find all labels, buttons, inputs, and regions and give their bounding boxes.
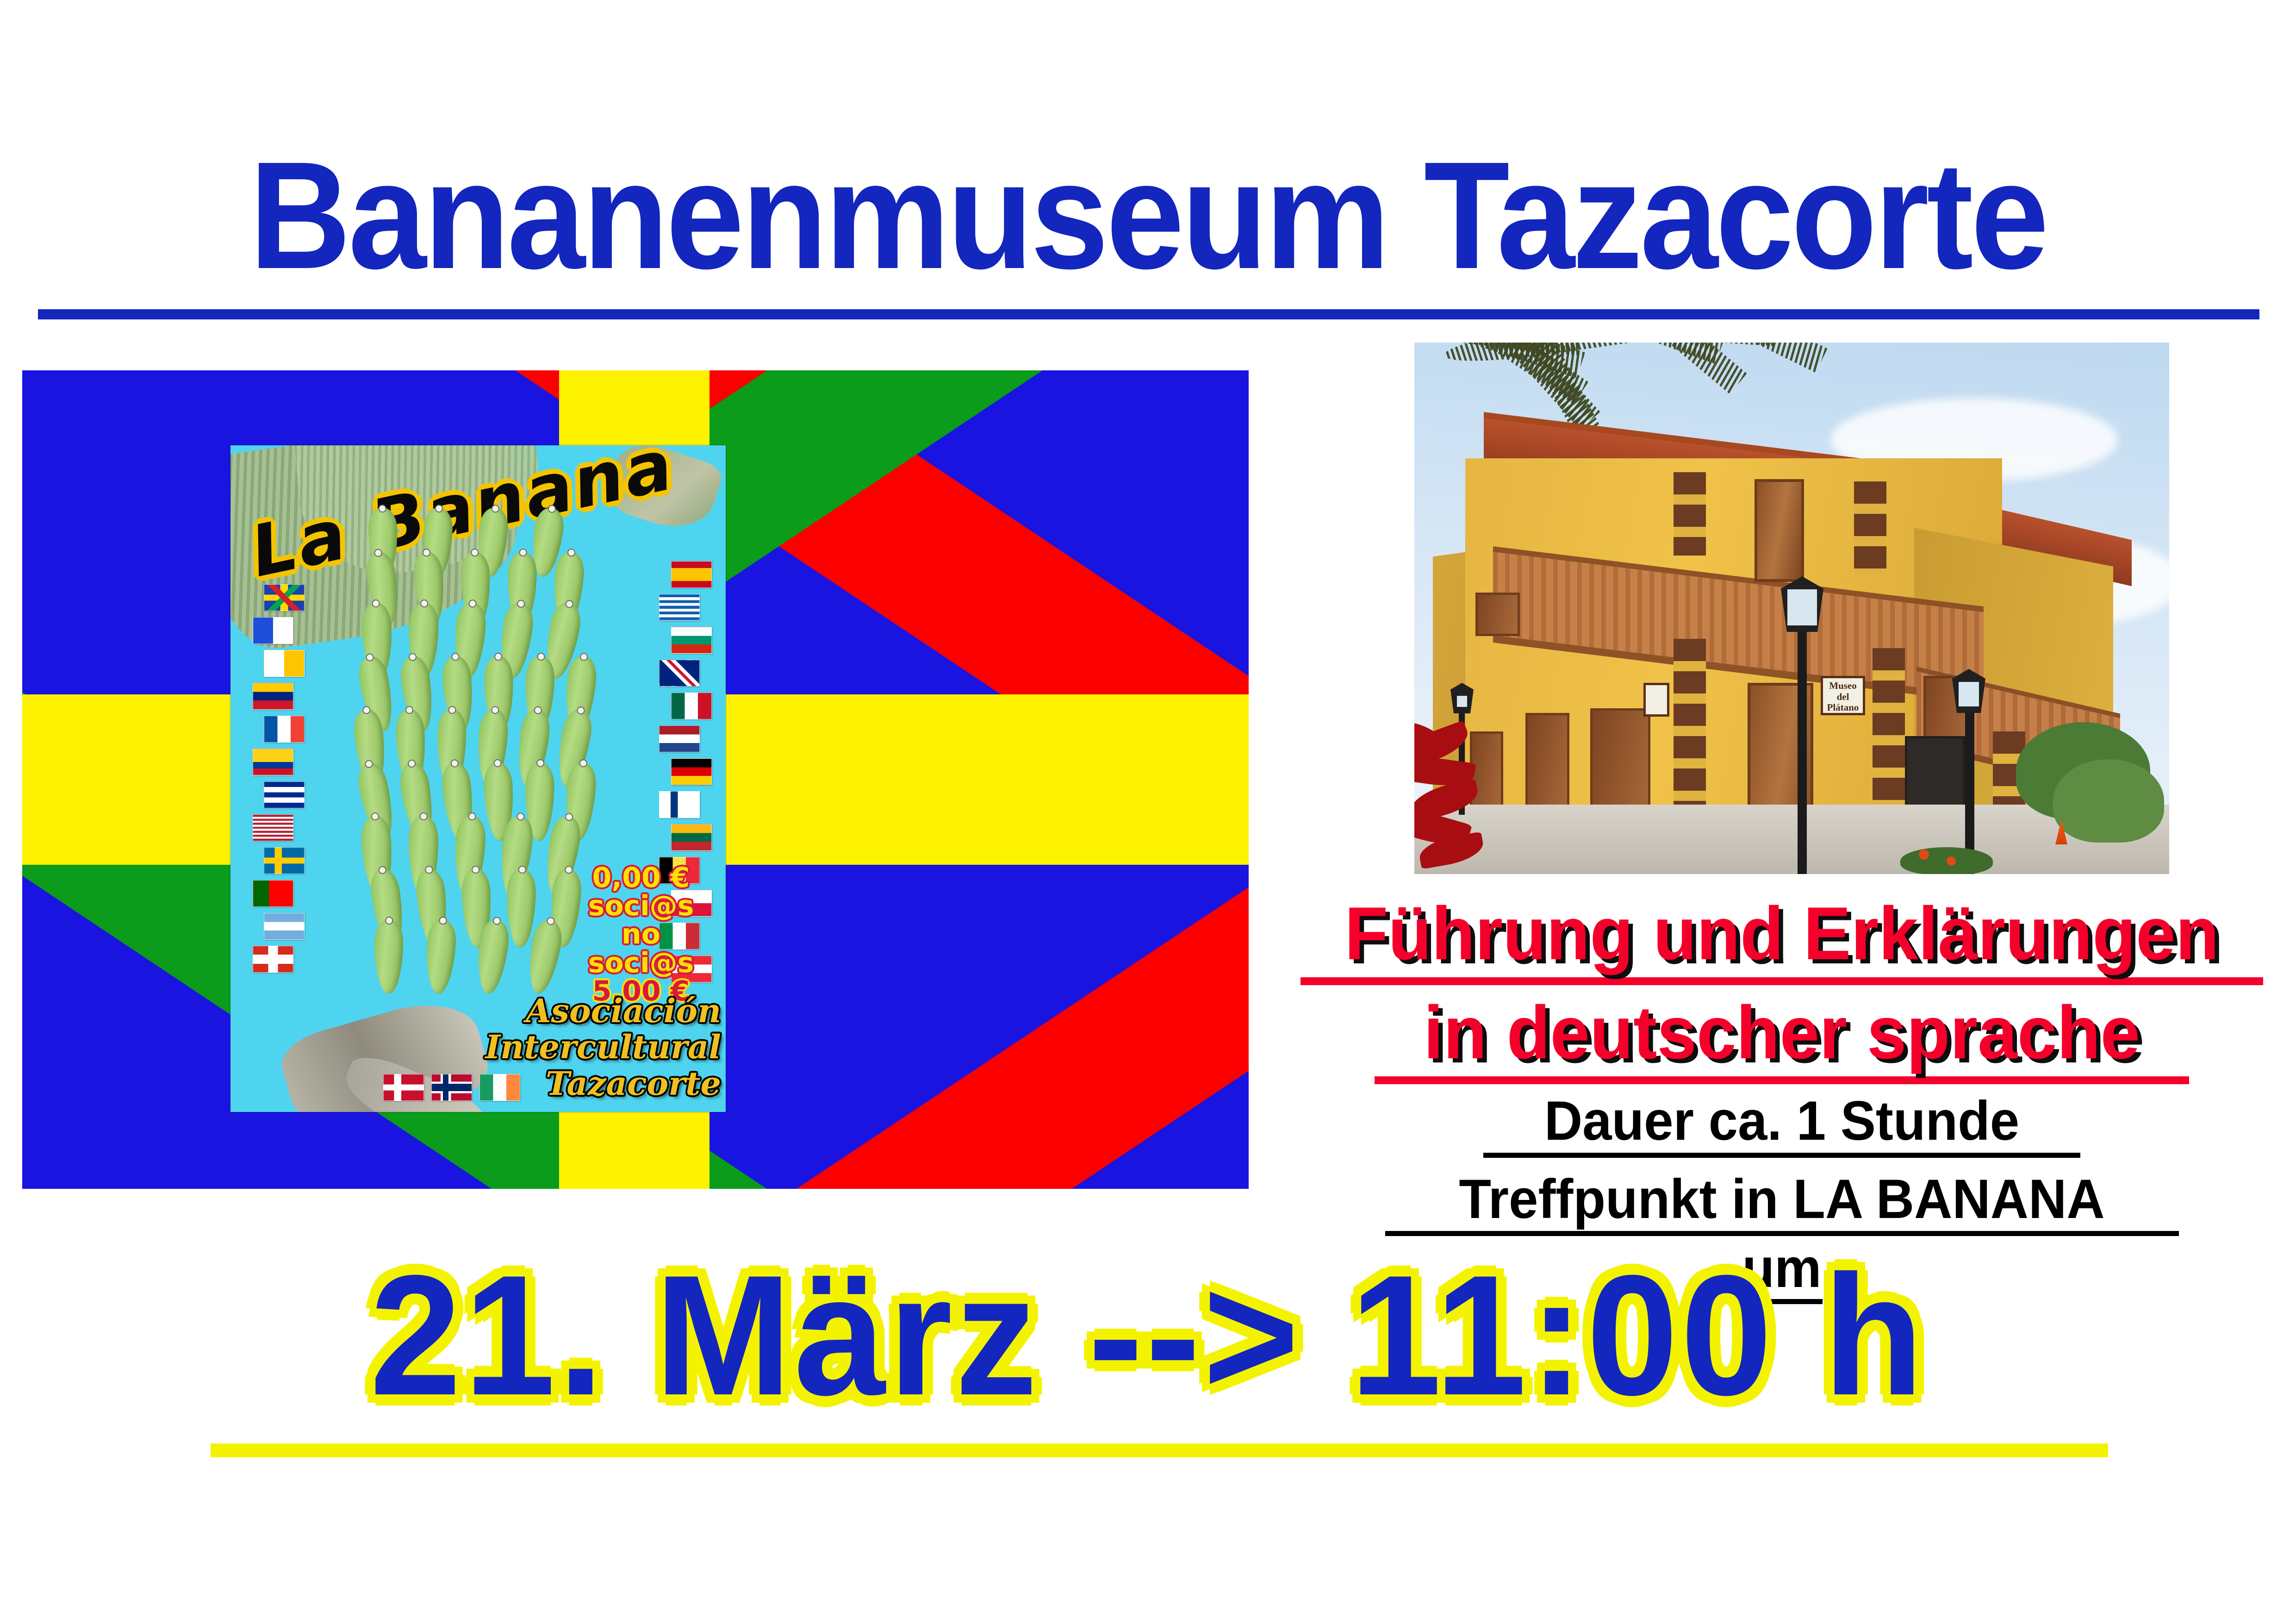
germany-flag <box>671 758 712 785</box>
sweden-flag <box>264 847 305 874</box>
meeting-point-text: Treffpunkt in LA BANANA <box>1303 1170 2261 1228</box>
headline-line-1: Führung und Erklärungen <box>1303 893 2261 974</box>
red-poinsettia-plant <box>1414 726 1553 874</box>
price-members-label: soci@s <box>565 892 717 920</box>
argentina-flag <box>264 913 305 940</box>
lithuania-flag <box>671 824 712 851</box>
orange-flower <box>1919 849 1929 860</box>
france-flag <box>264 716 305 743</box>
museum-sign-line-1: Museo <box>1823 681 1863 692</box>
museum-building-photo: Museo del Plátano <box>1414 343 2169 874</box>
page-title-container: Bananenmuseum Tazacorte <box>0 139 2296 292</box>
headline-line-2: in deutscher sprache <box>1303 993 2261 1074</box>
association-credit: Asociación Intercultural Tazacorte <box>360 993 721 1102</box>
banana-fruit-icon <box>424 919 457 994</box>
duration-underline <box>1483 1153 2080 1158</box>
mexico-flag <box>671 693 712 719</box>
price-list: 0,00 € soci@s no soci@s 5,00 € <box>565 864 717 1006</box>
bulgaria-flag <box>671 627 712 654</box>
meeting-point-underline <box>1385 1231 2179 1236</box>
date-banner-container: 21. März --> 11:00 h <box>0 1250 2296 1421</box>
tazacorte-flag <box>253 617 293 644</box>
museum-sign-line-2: del <box>1823 692 1863 703</box>
date-time-banner: 21. März --> 11:00 h <box>370 1250 1926 1421</box>
corner-stonework <box>1674 472 1706 556</box>
la-palma-flag <box>264 584 305 611</box>
banana-fruit-icon <box>374 920 404 994</box>
banana-plants-background <box>2053 759 2164 843</box>
museum-sign: Museo del Plátano <box>1821 676 1865 715</box>
page-title: Bananenmuseum Tazacorte <box>249 139 2047 292</box>
street-lamp-post <box>1798 630 1807 874</box>
spain-flag <box>671 561 712 588</box>
orange-flower <box>1947 856 1956 866</box>
flag-column-left <box>253 584 305 979</box>
banana-fruit-icon <box>506 868 536 948</box>
canary-islands-flag <box>264 650 305 677</box>
headline-underline-1 <box>1300 977 2263 985</box>
united-kingdom-flag <box>659 660 700 687</box>
la-banana-artwork: La Banana 0,00 € soci@s no soci@s 5,00 €… <box>22 370 1249 1189</box>
finland-flag <box>659 791 700 818</box>
price-nonmembers-label: no soci@s <box>565 920 717 977</box>
association-line-1: Asociación Intercultural <box>360 993 721 1066</box>
duration-text: Dauer ca. 1 Stunde <box>1303 1092 2261 1150</box>
banana-bunch-illustration <box>353 508 603 1008</box>
title-underline <box>38 309 2259 319</box>
upper-door <box>1755 479 1804 582</box>
netherlands-flag <box>659 725 700 752</box>
association-line-2: Tazacorte <box>360 1066 721 1102</box>
usa-flag <box>253 814 293 841</box>
date-banner-underline <box>211 1443 2108 1457</box>
secondary-wall-plaque <box>1643 683 1669 717</box>
switzerland-flag <box>253 946 293 973</box>
la-banana-poster: La Banana 0,00 € soci@s no soci@s 5,00 €… <box>230 445 726 1112</box>
upper-floor-window <box>1475 593 1520 636</box>
price-members-amount: 0,00 € <box>565 864 717 892</box>
greece-flag <box>659 594 700 621</box>
corner-stonework <box>1854 481 1886 574</box>
colombia-flag <box>253 749 293 775</box>
museum-sign-line-3: Plátano <box>1823 702 1863 713</box>
headline-underline-2 <box>1375 1076 2189 1084</box>
portugal-flag <box>253 880 293 907</box>
venezuela-flag <box>253 683 293 710</box>
cuba-flag <box>264 781 305 808</box>
